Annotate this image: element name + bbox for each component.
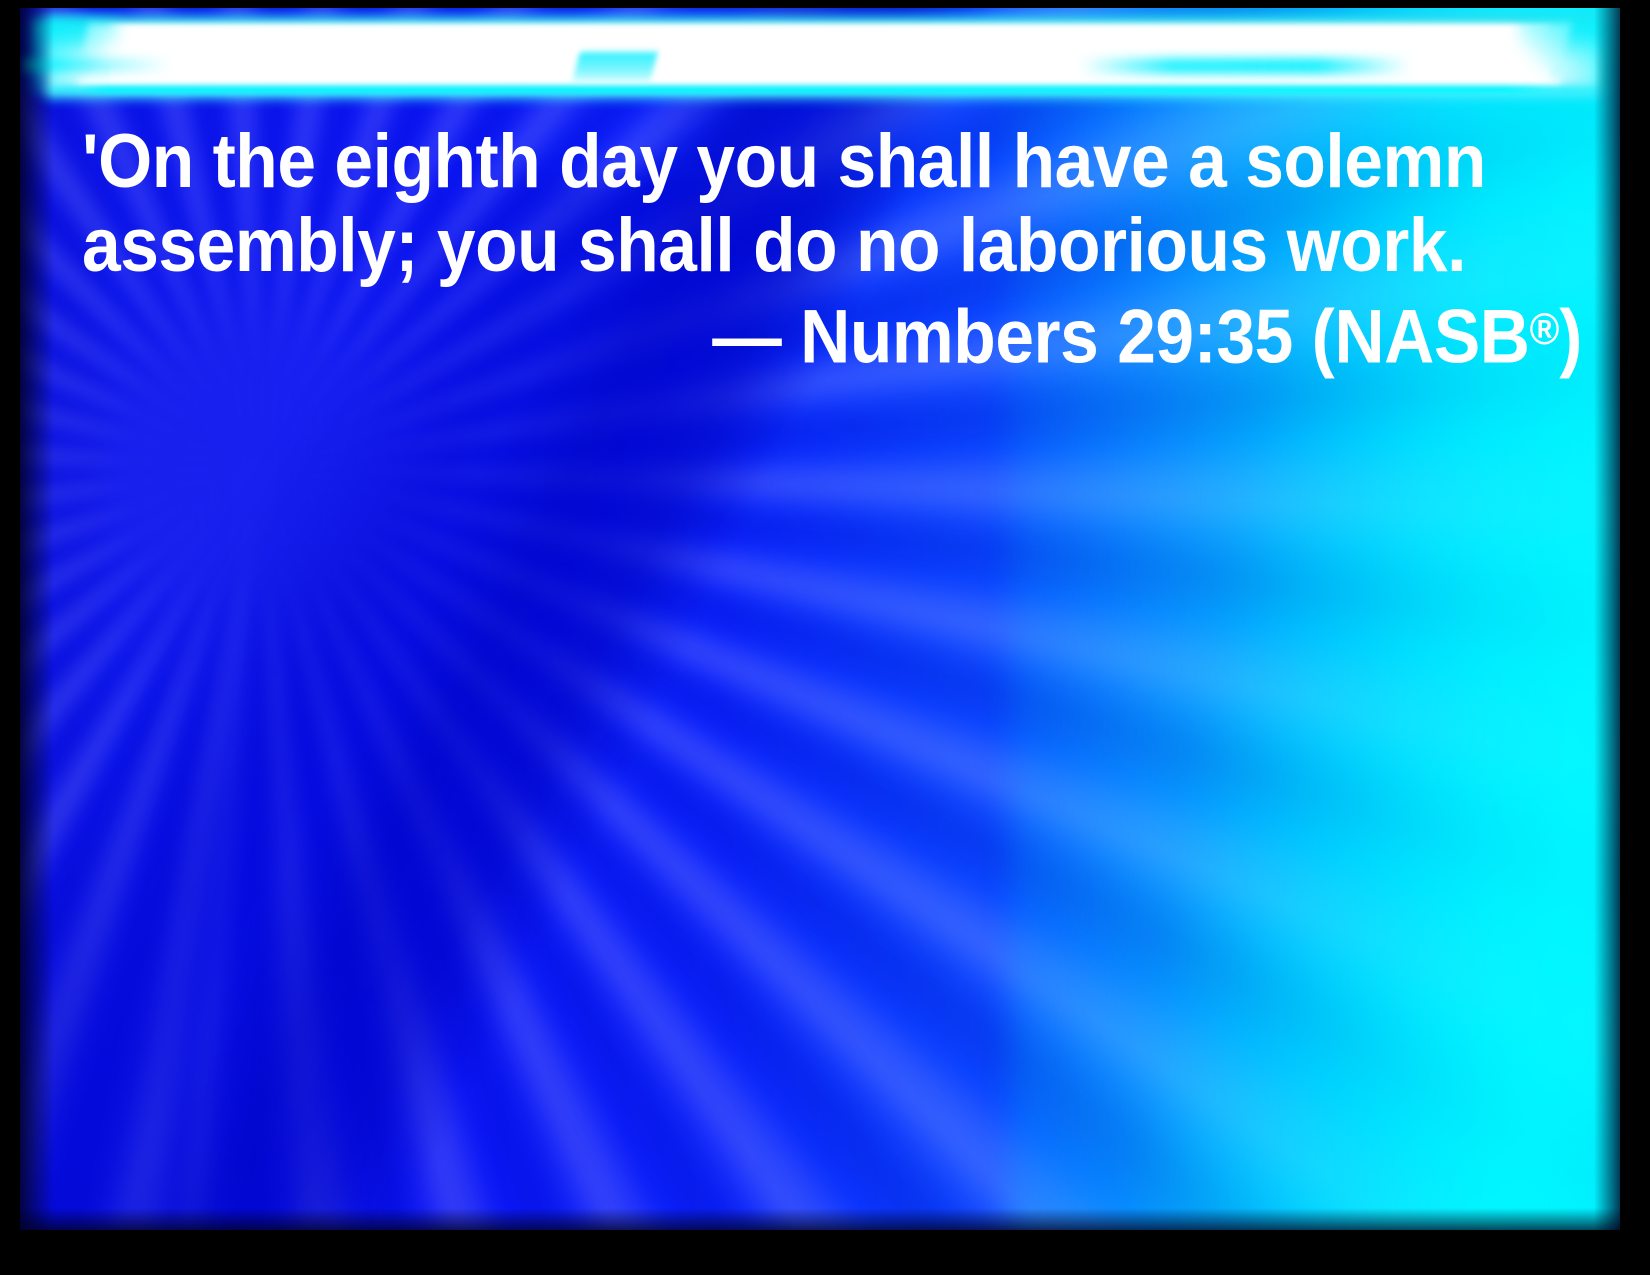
banner-cyan-streak-right — [1080, 58, 1410, 74]
banner-cyan-underline — [44, 86, 1600, 94]
slide-artwork: 'On the eighth day you shall have a sole… — [20, 8, 1620, 1230]
verse-line-2: assembly; you shall do no laborious work… — [82, 204, 1455, 288]
citation-reference-text: — Numbers 29:35 (NASB — [712, 295, 1529, 380]
verse-citation-line: — Numbers 29:35 (NASB®) — [210, 288, 1583, 380]
verse-line-1: 'On the eighth day you shall have a sole… — [82, 120, 1455, 204]
verse-text-block: 'On the eighth day you shall have a sole… — [82, 120, 1582, 380]
citation-closing-paren: ) — [1559, 295, 1582, 380]
registered-trademark-icon: ® — [1530, 305, 1560, 354]
banner-cyan-nub — [572, 52, 657, 82]
banner-bevel-left — [30, 18, 120, 94]
verse-slide: 'On the eighth day you shall have a sole… — [0, 0, 1650, 1275]
banner-bevel-right — [1518, 18, 1614, 96]
top-glow-banner — [20, 8, 1620, 128]
